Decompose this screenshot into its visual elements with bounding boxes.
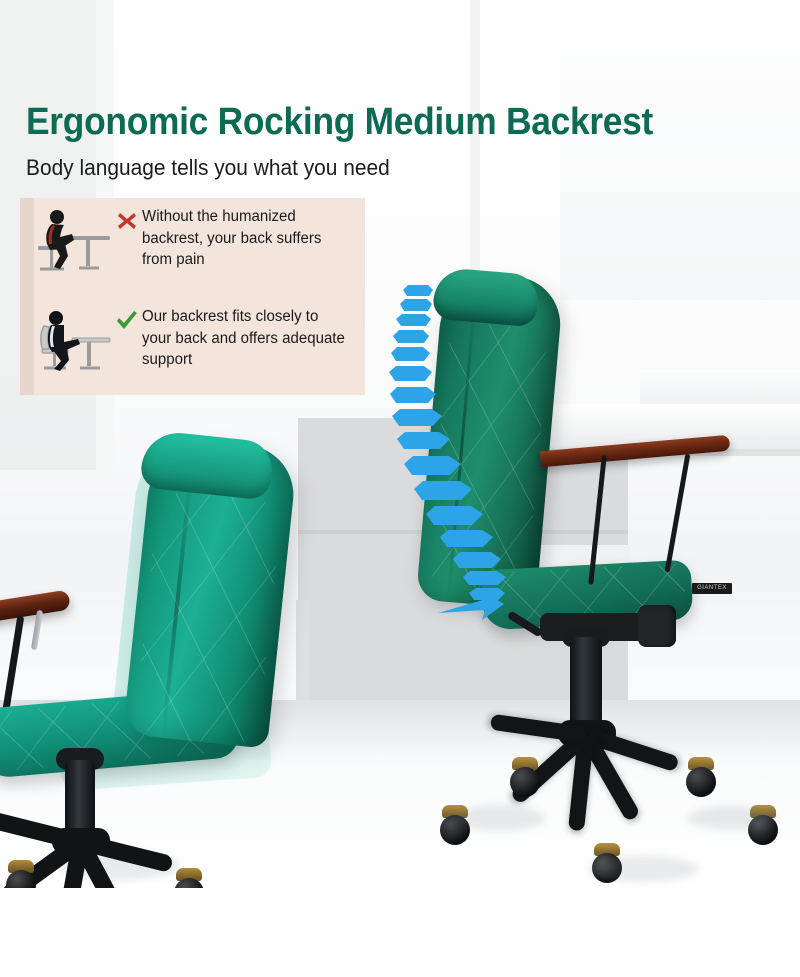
chair-gas-cylinder: [570, 637, 602, 732]
red-x-icon: [116, 210, 138, 232]
chair-caster: [686, 767, 716, 797]
page-subtitle: Body language tells you what you need: [26, 155, 390, 181]
floor-reflection: [688, 806, 778, 830]
spine-overlay: [378, 275, 538, 620]
armrest-post-rear: [665, 453, 691, 572]
hunched-posture-icon: [36, 206, 112, 278]
front-gas-cylinder: [65, 760, 95, 838]
benefit-panel-accent-strip: [20, 198, 34, 395]
product-marketing-image: GIANTEX: [0, 0, 800, 977]
front-chair-backrest-quilting: [133, 488, 282, 748]
benefit-row-negative: Without the humanized backrest, your bac…: [36, 206, 357, 278]
chair-caster: [510, 767, 540, 797]
spine-icon: [378, 275, 538, 620]
chair-wooden-armrest: [540, 435, 731, 467]
check-mark: [112, 306, 142, 332]
person-hunched-at-desk-icon: [36, 206, 112, 278]
benefit-row-positive: Our backrest fits closely to your back a…: [36, 306, 357, 378]
cross-mark: [112, 206, 142, 232]
upright-posture-icon: [36, 306, 112, 378]
floor-reflection: [455, 805, 545, 831]
chair-front-group: [0, 430, 360, 888]
floor-reflection: [588, 856, 698, 882]
chair-tension-knob: [638, 605, 676, 647]
benefit-text-negative: Without the humanized backrest, your bac…: [142, 206, 351, 271]
page-title: Ergonomic Rocking Medium Backrest: [26, 101, 653, 144]
window-light-area: [560, 0, 800, 300]
green-check-icon: [115, 310, 139, 332]
benefit-text-positive: Our backrest fits closely to your back a…: [142, 306, 351, 371]
chair-brand-tag: GIANTEX: [692, 583, 732, 594]
person-upright-in-chair-icon: [36, 306, 112, 378]
